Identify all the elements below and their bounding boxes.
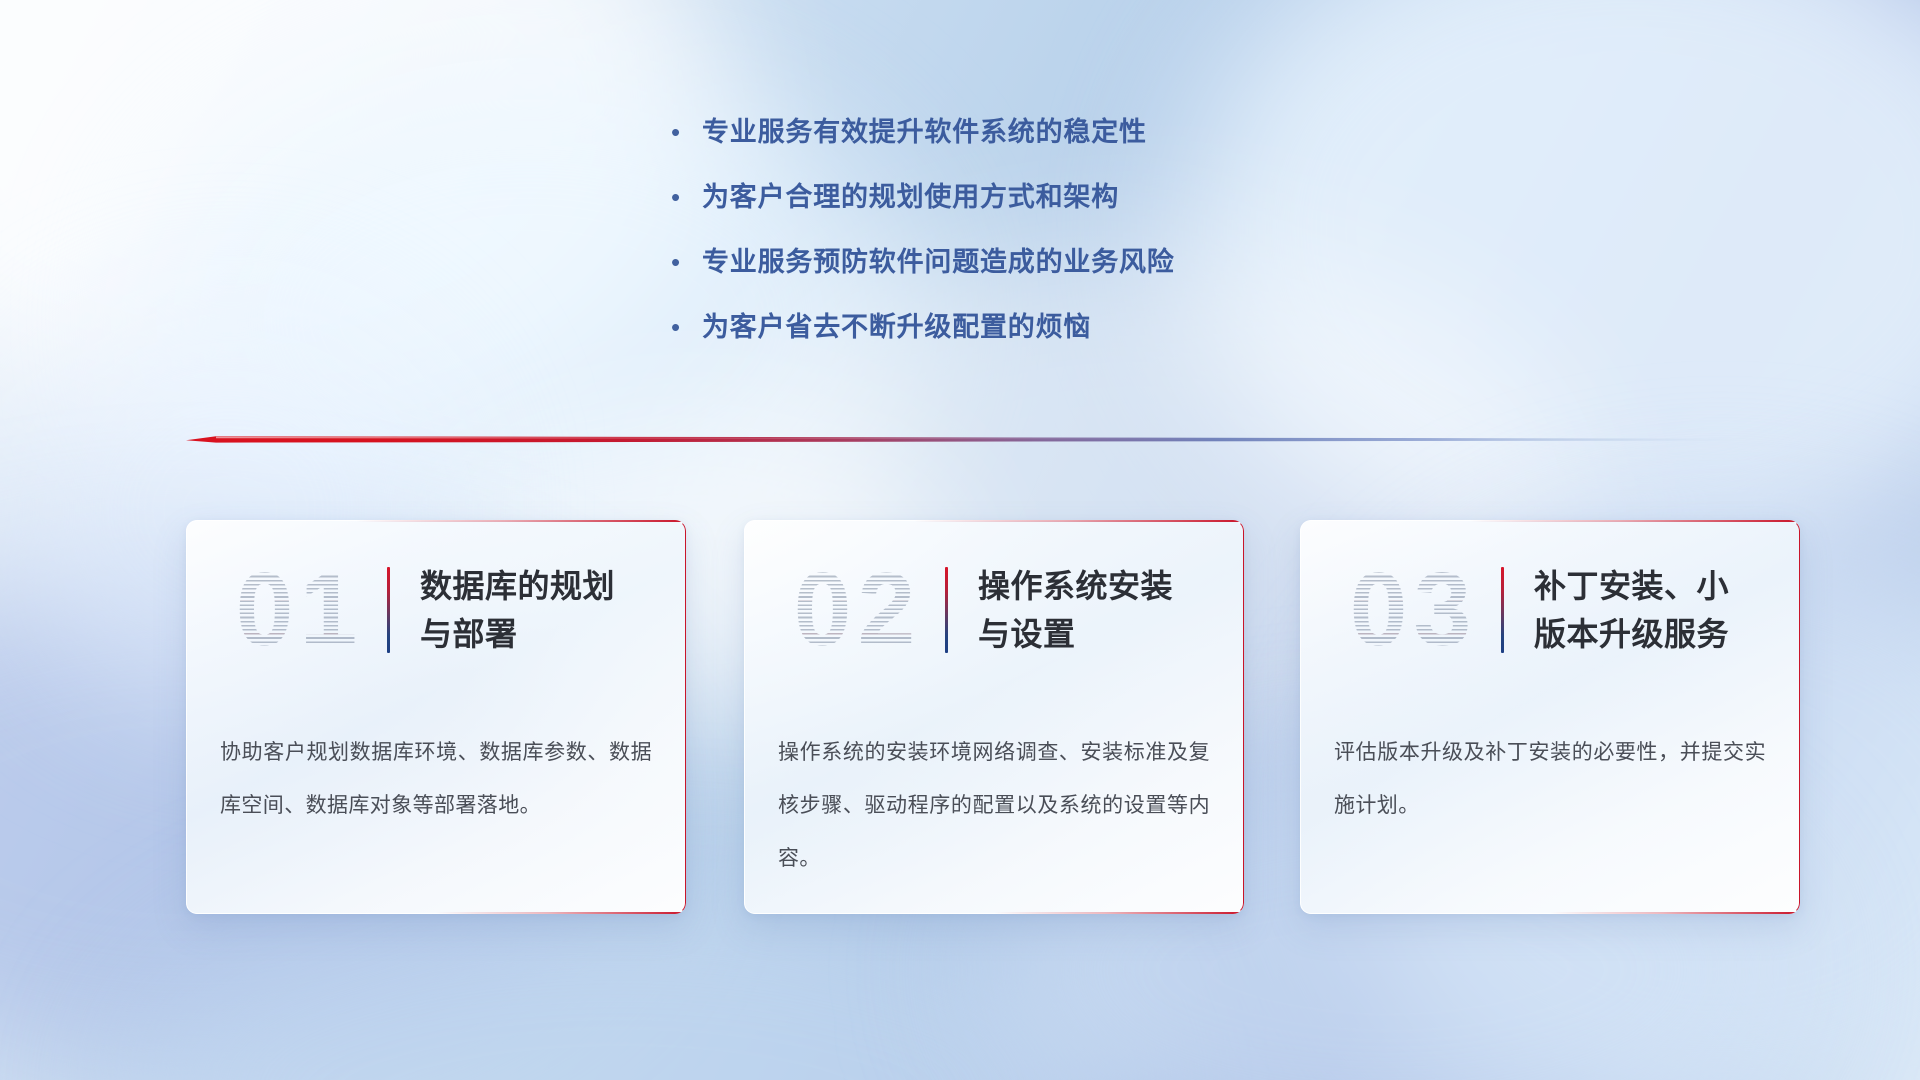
bullet-dot-icon: •: [668, 177, 702, 217]
background-glow-blob: [0, 0, 720, 440]
section-divider: [186, 432, 1746, 448]
list-item: • 为客户合理的规划使用方式和架构: [668, 177, 1428, 242]
card-index-red-scanlines: 01: [212, 547, 387, 673]
card-title-divider-bar: [1501, 567, 1504, 653]
card-title-line-2: 与设置: [978, 610, 1230, 658]
card-title-line-1: 数据库的规划: [420, 562, 672, 610]
card-index-watermark: 03 03: [1326, 547, 1501, 673]
card-header: 03 03 补丁安装、小 版本升级服务: [1300, 544, 1800, 676]
service-card-02[interactable]: 02 02 操作系统安装 与设置 操作系统的安装环境网络调查、安装标准及复核步骤…: [744, 520, 1244, 914]
card-index-watermark: 01 01: [212, 547, 387, 673]
card-title: 数据库的规划 与部署: [394, 562, 686, 658]
card-description: 评估版本升级及补丁安装的必要性，并提交实施计划。: [1334, 726, 1766, 832]
card-index-red-scanlines: 02: [770, 547, 945, 673]
bullet-label: 专业服务预防软件问题造成的业务风险: [702, 242, 1175, 282]
bullet-label: 为客户合理的规划使用方式和架构: [702, 177, 1119, 217]
list-item: • 专业服务预防软件问题造成的业务风险: [668, 242, 1428, 307]
service-card-01[interactable]: 01 01 数据库的规划 与部署 协助客户规划数据库环境、数据库参数、数据库空间…: [186, 520, 686, 914]
bullet-dot-icon: •: [668, 242, 702, 282]
benefits-bullet-list: • 专业服务有效提升软件系统的稳定性 • 为客户合理的规划使用方式和架构 • 专…: [668, 112, 1428, 372]
card-title: 操作系统安装 与设置: [952, 562, 1244, 658]
bullet-label: 为客户省去不断升级配置的烦恼: [702, 307, 1091, 347]
card-title-divider-bar: [387, 567, 390, 653]
card-description: 协助客户规划数据库环境、数据库参数、数据库空间、数据库对象等部署落地。: [220, 726, 652, 832]
slide-canvas: • 专业服务有效提升软件系统的稳定性 • 为客户合理的规划使用方式和架构 • 专…: [0, 0, 1920, 1080]
list-item: • 为客户省去不断升级配置的烦恼: [668, 307, 1428, 372]
card-title: 补丁安装、小 版本升级服务: [1508, 562, 1800, 658]
card-description: 操作系统的安装环境网络调查、安装标准及复核步骤、驱动程序的配置以及系统的设置等内…: [778, 726, 1210, 885]
card-title-line-2: 与部署: [420, 610, 672, 658]
list-item: • 专业服务有效提升软件系统的稳定性: [668, 112, 1428, 177]
card-accent-bottom-edge: [994, 912, 1244, 914]
card-title-line-2: 版本升级服务: [1534, 610, 1786, 658]
card-accent-top-edge: [1470, 520, 1800, 522]
card-index-red-scanlines: 03: [1326, 547, 1501, 673]
bullet-dot-icon: •: [668, 307, 702, 347]
card-accent-bottom-edge: [1550, 912, 1800, 914]
card-accent-bottom-edge: [436, 912, 686, 914]
divider-gradient-rule-icon: [186, 432, 1746, 448]
bullet-label: 专业服务有效提升软件系统的稳定性: [702, 112, 1147, 152]
service-card-row: 01 01 数据库的规划 与部署 协助客户规划数据库环境、数据库参数、数据库空间…: [0, 520, 1920, 940]
card-header: 02 02 操作系统安装 与设置: [744, 544, 1244, 676]
card-accent-top-edge: [356, 520, 686, 522]
card-accent-top-edge: [914, 520, 1244, 522]
card-index-watermark: 02 02: [770, 547, 945, 673]
card-title-divider-bar: [945, 567, 948, 653]
service-card-03[interactable]: 03 03 补丁安装、小 版本升级服务 评估版本升级及补丁安装的必要性，并提交实…: [1300, 520, 1800, 914]
card-title-line-1: 补丁安装、小: [1534, 562, 1786, 610]
card-title-line-1: 操作系统安装: [978, 562, 1230, 610]
card-header: 01 01 数据库的规划 与部署: [186, 544, 686, 676]
bullet-dot-icon: •: [668, 112, 702, 152]
